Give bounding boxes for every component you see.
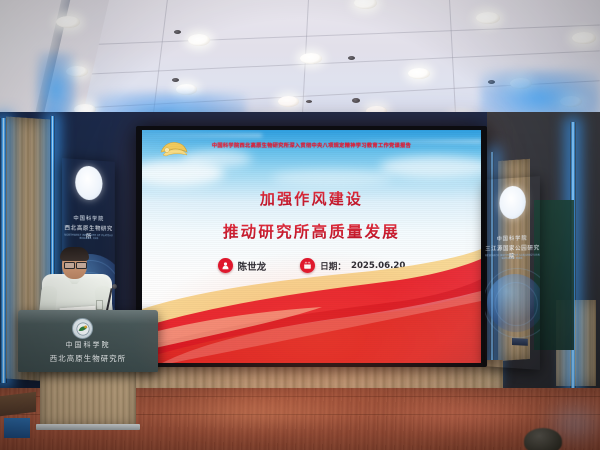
speaker-grille-icon xyxy=(172,78,179,82)
downlight-icon xyxy=(300,53,322,64)
podium-foot xyxy=(36,424,140,430)
led-accent-strip xyxy=(0,118,7,383)
banner-left-english: NORTHWEST INSTITUTE OF PLATEAU BIOLOGY, … xyxy=(62,234,115,241)
speaker-grille-icon xyxy=(352,98,360,103)
institute-emblem-icon xyxy=(72,318,93,339)
speaker-grille-icon xyxy=(174,30,181,34)
banner-highlight xyxy=(75,165,102,200)
podium-base xyxy=(40,372,136,426)
led-display-screen[interactable]: 中国科学院西北高原生物研究所深入贯彻中央八项规定精神学习教育工作党课报告 加强作… xyxy=(142,130,481,363)
speaker-badge xyxy=(96,300,103,310)
downlight-icon xyxy=(476,12,500,24)
ribbon-graphic xyxy=(142,231,481,363)
speaker-grille-icon xyxy=(348,56,355,60)
banner-right-english: RESEARCH INSTITUTE OF SANJIANGYUAN NATIO… xyxy=(485,254,540,261)
glasses-icon xyxy=(76,262,87,269)
conference-hall-photo: 中国科学院西北高原生物研究所深入贯彻中央八项规定精神学习教育工作党课报告 加强作… xyxy=(0,0,600,450)
downlight-icon xyxy=(408,68,430,79)
banner-right-line1: 中国科学院 xyxy=(485,233,540,242)
slide-banner-text: 中国科学院西北高原生物研究所深入贯彻中央八项规定精神学习教育工作党课报告 xyxy=(142,142,481,149)
downlight-icon xyxy=(572,32,596,44)
blue-case xyxy=(4,418,30,438)
speaker-hair xyxy=(60,247,89,261)
downlight-icon xyxy=(56,16,80,28)
downlight-icon xyxy=(188,34,210,46)
standing-banner-right: 中国科学院 三江源国家公园研究院 RESEARCH INSTITUTE OF S… xyxy=(485,176,540,370)
right-doorway xyxy=(534,200,574,350)
microphone-icon xyxy=(112,284,117,289)
banner-left-line1: 中国科学院 xyxy=(62,213,115,222)
banner-footplate xyxy=(512,338,528,346)
slide-title-line1: 加强作风建设 xyxy=(142,188,481,209)
speaker-grille-icon xyxy=(306,100,312,103)
downlight-icon xyxy=(278,96,299,107)
audience-member-head xyxy=(524,428,562,450)
banner-highlight xyxy=(499,185,525,219)
podium-line2: 西北高原生物研究所 xyxy=(18,353,158,364)
podium-line1: 中国科学院 xyxy=(18,340,158,350)
glasses-icon xyxy=(64,262,75,269)
